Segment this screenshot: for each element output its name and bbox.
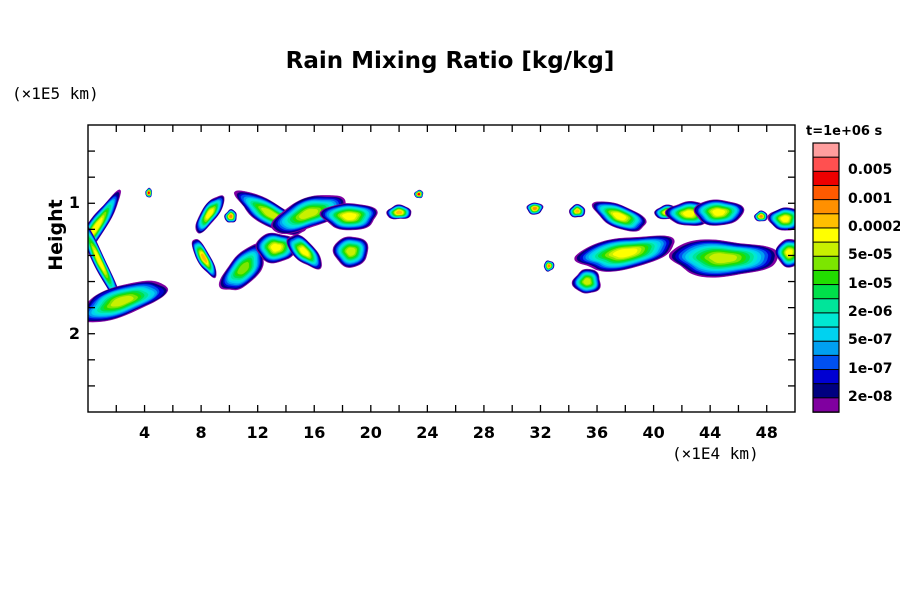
colorbar-tick-label: 5e-05 — [848, 247, 893, 263]
contour-blob — [192, 239, 216, 278]
x-tick-label: 44 — [696, 423, 724, 442]
x-tick-label: 32 — [526, 423, 554, 442]
colorbar-tick-label: 0.001 — [848, 191, 892, 207]
x-tick-label: 48 — [753, 423, 781, 442]
y-tick-label: 1 — [62, 193, 80, 212]
contour-blob — [669, 240, 778, 278]
colorbar-tick-label: 2e-06 — [848, 304, 893, 320]
colorbar-swatch — [813, 341, 839, 355]
contour-band — [418, 193, 420, 195]
contour-blob — [333, 237, 368, 268]
contour-blob — [569, 204, 585, 217]
contour-blob — [320, 203, 378, 230]
colorbar-swatch — [813, 214, 839, 228]
x-tick-label: 4 — [131, 423, 159, 442]
x-tick-label: 20 — [357, 423, 385, 442]
contour-plot — [0, 0, 900, 600]
contour-blob — [224, 209, 236, 222]
colorbar-swatch — [813, 157, 839, 171]
contour-blob — [414, 190, 423, 198]
x-tick-label: 36 — [583, 423, 611, 442]
contour-blob — [575, 236, 675, 272]
x-tick-label: 12 — [244, 423, 272, 442]
colorbar-swatch — [813, 285, 839, 299]
contour-blob — [527, 203, 544, 215]
colorbar — [813, 143, 839, 412]
contour-blob — [767, 208, 800, 231]
contour-band — [713, 209, 725, 215]
x-tick-label: 28 — [470, 423, 498, 442]
contour-blob — [196, 195, 225, 233]
contour-blob — [287, 235, 322, 270]
colorbar-swatch — [813, 143, 839, 157]
colorbar-swatch — [813, 384, 839, 398]
colorbar-swatch — [813, 200, 839, 214]
x-tick-label: 24 — [413, 423, 441, 442]
colorbar-swatch — [813, 370, 839, 384]
contour-blob — [544, 261, 554, 272]
colorbar-tick-label: 1e-07 — [848, 361, 893, 377]
x-tick-label: 40 — [640, 423, 668, 442]
colorbar-swatch — [813, 228, 839, 242]
colorbar-swatch — [813, 398, 839, 412]
colorbar-tick-label: 0.0002 — [848, 219, 900, 235]
contour-blob — [776, 239, 802, 267]
colorbar-swatch — [813, 185, 839, 199]
colorbar-swatch — [813, 171, 839, 185]
contour-blob — [146, 188, 152, 197]
contour-blob — [78, 281, 168, 322]
colorbar-swatch — [813, 299, 839, 313]
figure-canvas: Rain Mixing Ratio [kg/kg] (×1E5 km) (×1E… — [0, 0, 900, 600]
x-tick-label: 8 — [187, 423, 215, 442]
colorbar-swatch — [813, 355, 839, 369]
contour-blob — [754, 211, 767, 221]
contour-field — [73, 188, 802, 322]
x-tick-label: 16 — [300, 423, 328, 442]
colorbar-tick-label: 2e-08 — [848, 389, 893, 405]
contour-blob — [572, 269, 601, 293]
colorbar-tick-label: 1e-05 — [848, 276, 893, 292]
contour-band — [148, 192, 149, 194]
colorbar-swatch — [813, 327, 839, 341]
colorbar-swatch — [813, 270, 839, 284]
colorbar-tick-label: 5e-07 — [848, 332, 893, 348]
colorbar-swatch — [813, 313, 839, 327]
contour-blob — [386, 205, 411, 219]
colorbar-swatch — [813, 256, 839, 270]
contour-band — [548, 265, 550, 268]
contour-blob — [592, 202, 646, 232]
y-tick-label: 2 — [62, 324, 80, 343]
colorbar-swatch — [813, 242, 839, 256]
colorbar-tick-label: 0.005 — [848, 162, 892, 178]
